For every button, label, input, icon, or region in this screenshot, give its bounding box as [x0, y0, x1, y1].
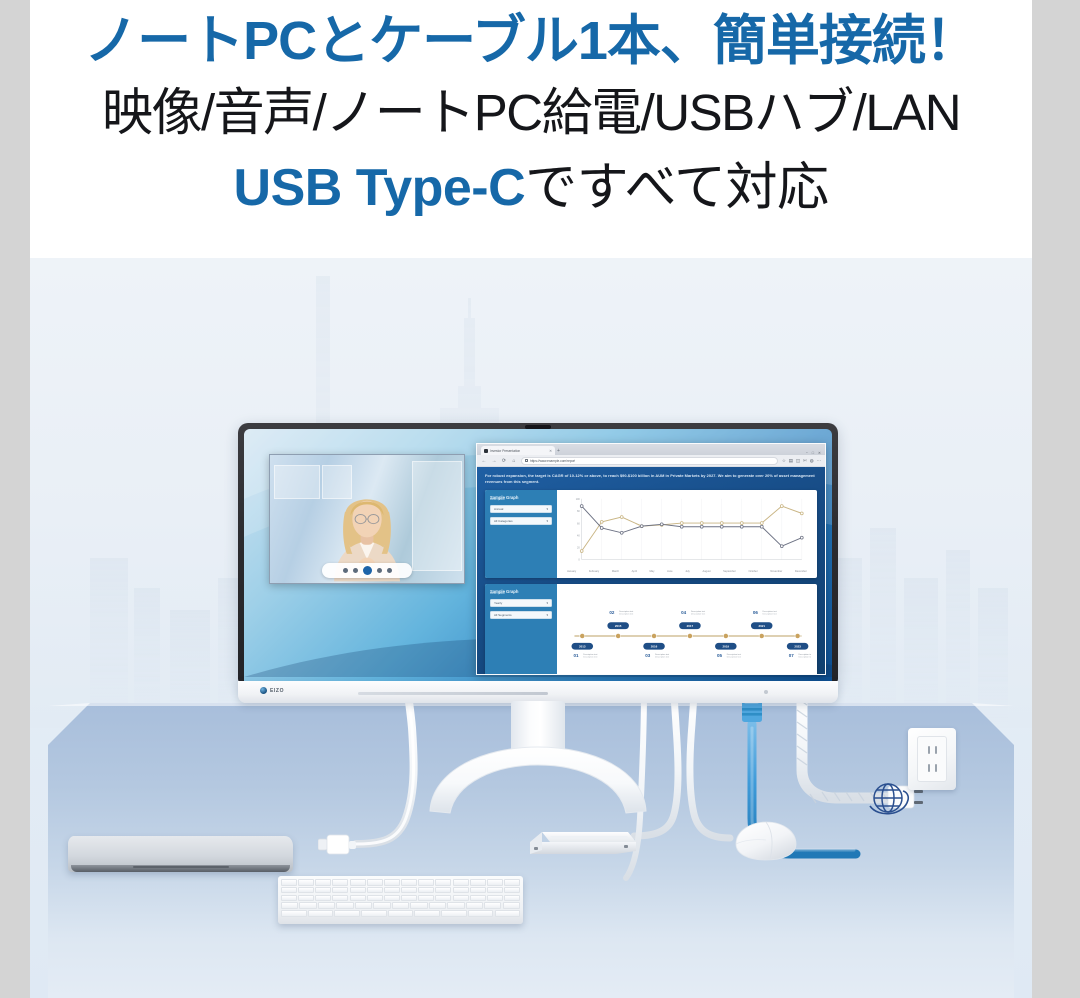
- svg-text:Description text: Description text: [619, 613, 634, 616]
- keyboard-key[interactable]: [410, 902, 427, 909]
- keyboard-key[interactable]: [401, 879, 417, 886]
- keyboard-key[interactable]: [298, 895, 314, 902]
- headline-line-2: 映像/音声/ノートPC給電/USBハブ/LAN: [102, 76, 960, 150]
- keyboard-key[interactable]: [418, 879, 434, 886]
- chart-controls-panel: Sample Graph Description Annual ▾ All Ca…: [485, 490, 557, 578]
- keyboard-key[interactable]: [447, 902, 464, 909]
- keyboard-key[interactable]: [384, 895, 400, 902]
- svg-text:Description text: Description text: [727, 656, 742, 659]
- keyboard-key[interactable]: [435, 887, 451, 894]
- svg-text:Description text: Description text: [799, 653, 811, 656]
- svg-text:60: 60: [577, 522, 580, 525]
- card1-select-period-value: Annual: [494, 507, 503, 511]
- svg-text:20: 20: [577, 547, 580, 550]
- keyboard-key[interactable]: [401, 895, 417, 902]
- monitor-screen: Investor Presentation ✕ + − □ ✕ ←: [244, 429, 832, 683]
- x-tick-label: November: [770, 570, 782, 573]
- keyboard-key[interactable]: [401, 887, 417, 894]
- share-screen-icon[interactable]: [377, 568, 382, 573]
- keyboard-key[interactable]: [504, 895, 520, 902]
- globe-network-icon: [866, 776, 912, 822]
- video-conference-window[interactable]: [269, 454, 465, 584]
- svg-text:2017: 2017: [687, 624, 694, 628]
- line-chart-body: 100806040200 JanuaryFebruaryMarchAprilMa…: [557, 490, 817, 578]
- card2-select-period-value: Yearly: [494, 601, 502, 605]
- card2-subtitle: Description: [490, 591, 552, 595]
- svg-text:Description text: Description text: [799, 656, 811, 659]
- line-chart-svg: 100806040200: [563, 495, 811, 569]
- chevron-down-icon: ▾: [546, 613, 548, 617]
- timeline-card: Sample Graph Description Yearly ▾ All Se…: [485, 584, 817, 675]
- end-call-icon[interactable]: [363, 566, 372, 575]
- line-chart-card: Sample Graph Description Annual ▾ All Ca…: [485, 490, 817, 578]
- svg-text:2021: 2021: [758, 624, 765, 628]
- chevron-down-icon: ▾: [546, 519, 548, 523]
- keyboard-row[interactable]: [281, 895, 520, 902]
- keyboard-key[interactable]: [468, 910, 494, 917]
- profile-icon[interactable]: ◍: [810, 458, 814, 464]
- home-icon[interactable]: ⌂: [511, 458, 517, 464]
- headline-line-3-accent: USB Type-C: [234, 159, 526, 217]
- keyboard-key[interactable]: [504, 879, 520, 886]
- svg-text:2013: 2013: [579, 645, 586, 649]
- favicon-icon: [484, 449, 488, 453]
- monitor-bezel: Investor Presentation ✕ + − □ ✕ ←: [238, 423, 838, 683]
- keyboard-key[interactable]: [495, 910, 521, 917]
- monitor-stand-base: [422, 741, 654, 815]
- menu-icon[interactable]: ⋯: [817, 458, 821, 464]
- outlet-socket: [925, 763, 940, 774]
- laptop-front-notch: [133, 866, 229, 868]
- headline-line-3-rest: ですべて対応: [525, 159, 828, 217]
- svg-text:0: 0: [578, 559, 580, 562]
- keyboard-key[interactable]: [414, 910, 440, 917]
- keyboard-key[interactable]: [315, 887, 331, 894]
- keyboard-key[interactable]: [281, 879, 297, 886]
- timeline-svg: 201301Description textDescription text20…: [563, 589, 811, 675]
- brand-mark-icon: [260, 687, 267, 694]
- keyboard-key[interactable]: [503, 902, 520, 909]
- keyboard-key[interactable]: [388, 910, 414, 917]
- browser-page-content: For robust expansion, the target is CAGR…: [477, 467, 825, 675]
- card1-select-category-value: All Categories: [494, 519, 513, 523]
- svg-text:Description text: Description text: [619, 610, 634, 613]
- x-tick-label: January: [567, 570, 576, 573]
- svg-text:Description text: Description text: [691, 610, 706, 613]
- tab-title: Investor Presentation: [490, 449, 520, 453]
- keyboard-key[interactable]: [334, 910, 360, 917]
- lock-icon: [525, 459, 528, 462]
- keyboard-key[interactable]: [453, 879, 469, 886]
- card1-select-category[interactable]: All Categories ▾: [490, 517, 552, 525]
- browser-tab-bar[interactable]: Investor Presentation ✕ + − □ ✕: [477, 444, 825, 455]
- usb-c-connector: [318, 834, 356, 856]
- keyboard-key[interactable]: [453, 895, 469, 902]
- chevron-down-icon: ▾: [546, 507, 548, 511]
- browser-toolbar[interactable]: ← → ⟳ ⌂ https://www.example.com/report ☆…: [477, 455, 825, 467]
- keyboard-key[interactable]: [435, 879, 451, 886]
- keyboard-key[interactable]: [350, 879, 366, 886]
- window-controls[interactable]: − □ ✕: [806, 451, 825, 455]
- mic-icon[interactable]: [343, 568, 348, 573]
- keyboard-key[interactable]: [453, 887, 469, 894]
- bookmark-icon[interactable]: ☆: [782, 458, 786, 464]
- mouse[interactable]: [730, 820, 800, 862]
- svg-text:Description text: Description text: [655, 653, 670, 656]
- keyboard-key[interactable]: [470, 887, 486, 894]
- minimize-icon[interactable]: −: [806, 451, 808, 455]
- browser-tab[interactable]: Investor Presentation ✕: [481, 446, 555, 455]
- wall-outlet: [908, 728, 956, 790]
- x-tick-label: August: [702, 570, 710, 573]
- power-led-icon: [764, 690, 768, 694]
- keyboard-body[interactable]: [278, 876, 523, 924]
- keyboard-key[interactable]: [315, 879, 331, 886]
- monitor-bottom-bezel: EIZO: [238, 681, 838, 703]
- keyboard-key[interactable]: [418, 887, 434, 894]
- keyboard-key[interactable]: [435, 895, 451, 902]
- x-tick-label: December: [795, 570, 807, 573]
- extensions-icon[interactable]: ✄: [803, 458, 807, 464]
- keyboard-key[interactable]: [308, 910, 334, 917]
- x-tick-label: April: [632, 570, 637, 573]
- svg-text:01: 01: [573, 653, 579, 658]
- keyboard-key[interactable]: [298, 887, 314, 894]
- svg-text:80: 80: [577, 510, 580, 513]
- keyboard-key[interactable]: [429, 902, 446, 909]
- x-tick-label: March: [612, 570, 619, 573]
- keyboard-key[interactable]: [281, 887, 297, 894]
- keyboard-key[interactable]: [418, 895, 434, 902]
- keyboard-key[interactable]: [332, 879, 348, 886]
- keyboard-key[interactable]: [281, 902, 298, 909]
- keyboard-row[interactable]: [281, 879, 520, 886]
- keyboard-key[interactable]: [350, 895, 366, 902]
- keyboard-key[interactable]: [350, 887, 366, 894]
- svg-text:06: 06: [753, 610, 759, 615]
- url-bar[interactable]: https://www.example.com/report: [521, 457, 778, 465]
- url-text: https://www.example.com/report: [530, 459, 575, 463]
- svg-text:Description text: Description text: [727, 653, 742, 656]
- promo-image-root: ノートPCとケーブル1本、簡単接続！ 映像/音声/ノートPC給電/USBハブ/L…: [0, 0, 1080, 998]
- keyboard-key[interactable]: [484, 902, 501, 909]
- keyboard-key[interactable]: [298, 879, 314, 886]
- outlet-face: [917, 736, 947, 782]
- line-chart-x-labels: JanuaryFebruaryMarchAprilMayJuneJulyAugu…: [563, 570, 811, 573]
- keyboard-key[interactable]: [373, 902, 390, 909]
- keyboard-key[interactable]: [470, 895, 486, 902]
- keyboard-key[interactable]: [487, 895, 503, 902]
- svg-text:Description text: Description text: [583, 653, 598, 656]
- reload-icon[interactable]: ⟳: [501, 458, 507, 464]
- keyboard-key[interactable]: [441, 910, 467, 917]
- page-lede-text: For robust expansion, the target is CAGR…: [485, 473, 817, 485]
- keyboard-key[interactable]: [318, 902, 335, 909]
- svg-text:Description text: Description text: [763, 613, 778, 616]
- keyboard-key[interactable]: [384, 887, 400, 894]
- svg-text:04: 04: [681, 610, 687, 615]
- collections-icon[interactable]: ▤: [789, 458, 793, 464]
- headline-line-1: ノートPCとケーブル1本、簡単接続！: [84, 6, 978, 76]
- split-icon[interactable]: ◫: [796, 458, 800, 464]
- svg-text:40: 40: [577, 534, 580, 537]
- svg-text:2016: 2016: [651, 645, 658, 649]
- keyboard-key[interactable]: [367, 887, 383, 894]
- keyboard-key[interactable]: [332, 895, 348, 902]
- x-tick-label: September: [723, 570, 736, 573]
- curved-monitor: Investor Presentation ✕ + − □ ✕ ←: [238, 423, 838, 718]
- keyboard-key[interactable]: [487, 879, 503, 886]
- video-icon[interactable]: [353, 568, 358, 573]
- brand-name: EIZO: [270, 688, 284, 694]
- svg-text:2015: 2015: [615, 624, 622, 628]
- svg-text:2019: 2019: [723, 645, 730, 649]
- headline-line-3: USB Type-Cですべて対応: [234, 150, 829, 226]
- external-hard-drive: [528, 828, 638, 858]
- keyboard-key[interactable]: [361, 910, 387, 917]
- card2-select-segment[interactable]: All Segments ▾: [490, 611, 552, 619]
- x-tick-label: June: [667, 570, 673, 573]
- headline-band: ノートPCとケーブル1本、簡単接続！ 映像/音声/ノートPC給電/USBハブ/L…: [30, 0, 1032, 258]
- svg-text:Description text: Description text: [691, 613, 706, 616]
- forward-icon[interactable]: →: [491, 458, 497, 464]
- x-tick-label: July: [685, 570, 690, 573]
- keyboard-key[interactable]: [367, 895, 383, 902]
- toolbar-icons[interactable]: ☆ ▤ ◫ ✄ ◍ ⋯: [782, 458, 821, 464]
- x-tick-label: May: [649, 570, 654, 573]
- laptop-closed: [68, 836, 293, 872]
- keyboard-key[interactable]: [504, 887, 520, 894]
- close-tab-icon[interactable]: ✕: [549, 449, 552, 453]
- svg-text:03: 03: [645, 653, 651, 658]
- keyboard-key[interactable]: [281, 895, 297, 902]
- keyboard-key[interactable]: [332, 887, 348, 894]
- svg-text:05: 05: [717, 653, 723, 658]
- timeline-body: 201301Description textDescription text20…: [557, 584, 817, 675]
- card2-select-period[interactable]: Yearly ▾: [490, 599, 552, 607]
- keyboard-row[interactable]: [281, 887, 520, 894]
- keyboard-row[interactable]: [281, 902, 520, 909]
- browser-window[interactable]: Investor Presentation ✕ + − □ ✕ ←: [476, 443, 826, 675]
- keyboard-key[interactable]: [299, 902, 316, 909]
- card1-select-period[interactable]: Annual ▾: [490, 505, 552, 513]
- keyboard[interactable]: [278, 876, 523, 924]
- keyboard-key[interactable]: [466, 902, 483, 909]
- monitor-brand-logo: EIZO: [260, 687, 284, 694]
- more-options-icon[interactable]: [387, 568, 392, 573]
- svg-text:2023: 2023: [794, 645, 801, 649]
- new-tab-icon[interactable]: +: [557, 447, 560, 455]
- x-tick-label: October: [748, 570, 757, 573]
- keyboard-key[interactable]: [367, 879, 383, 886]
- maximize-icon[interactable]: □: [812, 451, 814, 455]
- card2-select-segment-value: All Segments: [494, 613, 512, 617]
- keyboard-key[interactable]: [355, 902, 372, 909]
- keyboard-key[interactable]: [281, 910, 307, 917]
- outlet-socket: [925, 745, 940, 756]
- keyboard-key[interactable]: [384, 879, 400, 886]
- svg-text:Description text: Description text: [655, 656, 670, 659]
- keyboard-key[interactable]: [487, 887, 503, 894]
- svg-text:100: 100: [576, 498, 581, 501]
- keyboard-key[interactable]: [392, 902, 409, 909]
- keyboard-row[interactable]: [281, 910, 520, 917]
- back-icon[interactable]: ←: [481, 458, 487, 464]
- keyboard-key[interactable]: [470, 879, 486, 886]
- svg-text:07: 07: [789, 653, 795, 658]
- x-tick-label: February: [589, 570, 599, 573]
- bezel-slot: [358, 692, 548, 695]
- product-scene: Investor Presentation ✕ + − □ ✕ ←: [30, 258, 1032, 998]
- svg-text:Description text: Description text: [583, 656, 598, 659]
- close-window-icon[interactable]: ✕: [818, 451, 821, 455]
- timeline-controls-panel: Sample Graph Description Yearly ▾ All Se…: [485, 584, 557, 675]
- svg-text:02: 02: [609, 610, 615, 615]
- chevron-down-icon: ▾: [546, 601, 548, 605]
- card1-subtitle: Description: [490, 497, 552, 501]
- keyboard-key[interactable]: [315, 895, 331, 902]
- keyboard-key[interactable]: [336, 902, 353, 909]
- video-call-controls[interactable]: [322, 563, 412, 578]
- svg-text:Description text: Description text: [763, 610, 778, 613]
